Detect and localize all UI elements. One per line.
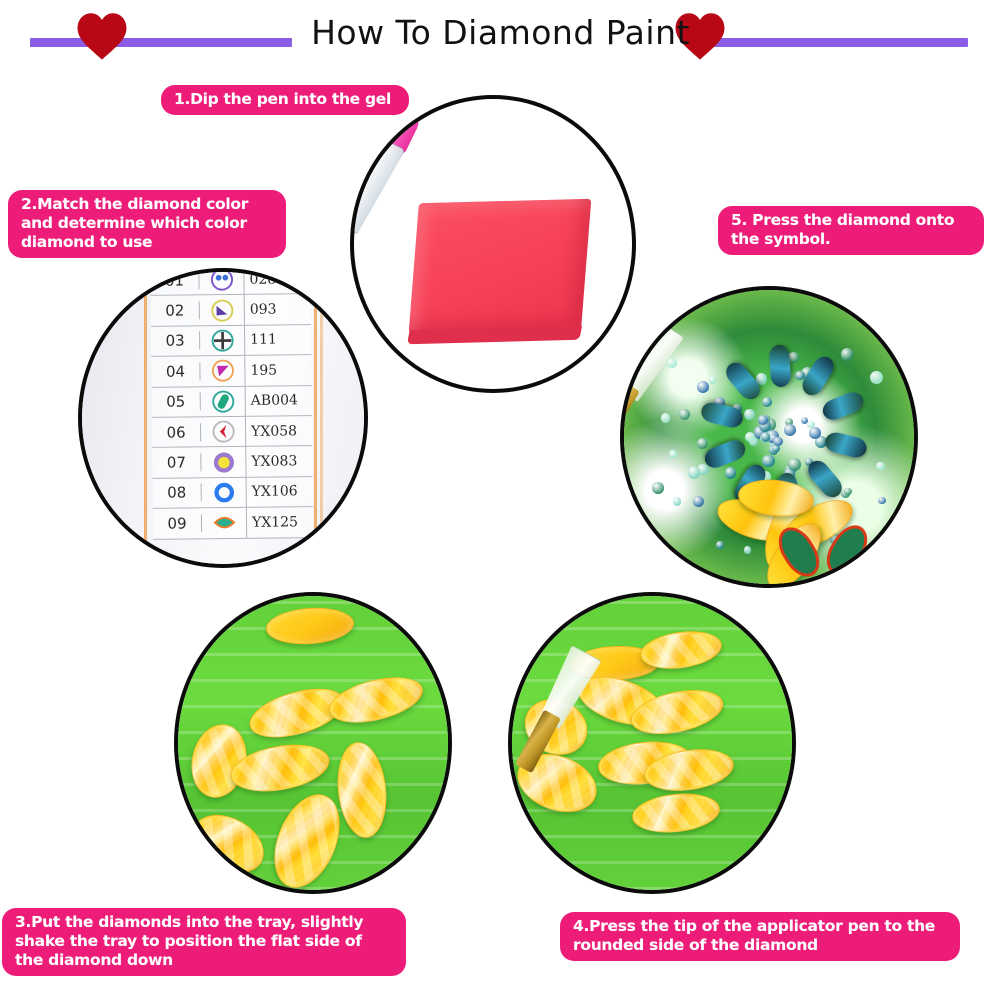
rhinestone-dot (870, 371, 883, 384)
legend-row-code: 195 (245, 362, 311, 379)
diamond-legend-table: 0102802093031110419505AB00406YX05807YX08… (150, 268, 313, 568)
rhinestone-dot (669, 450, 676, 457)
rhinestone-dot (788, 352, 798, 362)
rhinestone-dot (758, 415, 768, 425)
table-row: 04195 (151, 355, 311, 387)
legend-row-code: 028 (244, 271, 310, 288)
page-title: How To Diamond Paint (0, 16, 1001, 49)
step-4-label: 4.Press the tip of the applicator pen to… (560, 912, 960, 961)
step-5-label: 5. Press the diamond onto the symbol. (718, 206, 984, 255)
rhinestone-dot (673, 497, 681, 505)
legend-row-number: 08 (153, 484, 202, 503)
rhinestone-dot (876, 462, 884, 470)
legend-row-number: 04 (151, 362, 200, 381)
table-row: 07YX083 (152, 447, 312, 479)
gel-pad (409, 199, 592, 333)
table-row: 08YX106 (153, 477, 313, 509)
legend-row-number: 03 (151, 332, 200, 351)
legend-row-code: YX058 (246, 423, 312, 440)
filled-dot-in-ring-icon (201, 447, 246, 477)
step-5-photo (620, 286, 918, 588)
rhinestone-dot (784, 424, 796, 436)
applicator-pen-icon (350, 95, 426, 266)
rhinestone-dot (652, 482, 663, 493)
step-1-photo (350, 95, 636, 393)
leaf-marquise-icon (202, 508, 247, 538)
table-row: 06YX058 (152, 416, 312, 448)
rhinestone-dot (773, 437, 782, 446)
poster-root: How To Diamond Paint 1.Dip the pen into … (0, 0, 1001, 1001)
rhinestone-dot (725, 467, 737, 479)
legend-row-code: 093 (245, 301, 311, 318)
step-2-photo: 0102802093031110419505AB00406YX05807YX08… (78, 268, 368, 568)
rhinestone-dot (688, 466, 700, 478)
legend-row-number: 01 (150, 271, 199, 290)
legend-row-number: 07 (152, 453, 201, 472)
left-chevron-circle-icon (201, 417, 246, 447)
rhinestone-dot (661, 413, 671, 423)
page-header: How To Diamond Paint (0, 0, 1001, 78)
legend-row-code: 111 (245, 332, 311, 349)
dark-marquise-gem (768, 344, 791, 387)
slanted-capsule-circle-icon (201, 386, 246, 416)
two-blue-dots-circle-icon (199, 268, 244, 295)
paper-stripe (314, 272, 317, 564)
legend-row-number: 05 (152, 393, 201, 412)
rhinestone-dot (762, 455, 774, 467)
table-row: 01028 (150, 268, 310, 296)
rhinestone-dot (744, 546, 751, 553)
step-3-photo (174, 592, 452, 894)
step-4-photo (508, 592, 796, 894)
legend-row-number: 06 (152, 423, 201, 442)
legend-row-number: 02 (151, 301, 200, 320)
rhinestone-dot (809, 427, 821, 439)
legend-row-number: 09 (153, 514, 202, 533)
rhinestone-dot (709, 376, 717, 384)
filled-triangle-circle-icon (200, 295, 245, 325)
table-row: 05AB004 (152, 386, 312, 418)
rhinestone-dot (841, 348, 854, 361)
table-row: 09YX125 (153, 507, 313, 539)
legend-row-code: YX106 (247, 484, 313, 501)
legend-row-code: AB004 (246, 392, 312, 409)
legend-row-code: YX125 (247, 514, 313, 531)
rhinestone-dot (761, 432, 771, 442)
table-row: 03111 (151, 325, 311, 357)
rhinestone-dot (744, 409, 755, 420)
paper-stripe (144, 272, 147, 564)
rhinestone-dot (693, 496, 704, 507)
rhinestone-dot (697, 381, 709, 393)
step-2-label: 2.Match the diamond color and determine … (8, 190, 286, 258)
plus-cross-circle-icon (200, 326, 245, 356)
legend-row-code: YX083 (246, 453, 312, 470)
magenta-triangle-circle-icon (200, 356, 245, 386)
paper-stripe (320, 272, 323, 564)
step-3-label: 3.Put the diamonds into the tray, slight… (2, 908, 406, 976)
rhinestone-dot (788, 458, 801, 471)
open-ring-icon (202, 478, 247, 508)
table-row: 02093 (151, 295, 311, 327)
